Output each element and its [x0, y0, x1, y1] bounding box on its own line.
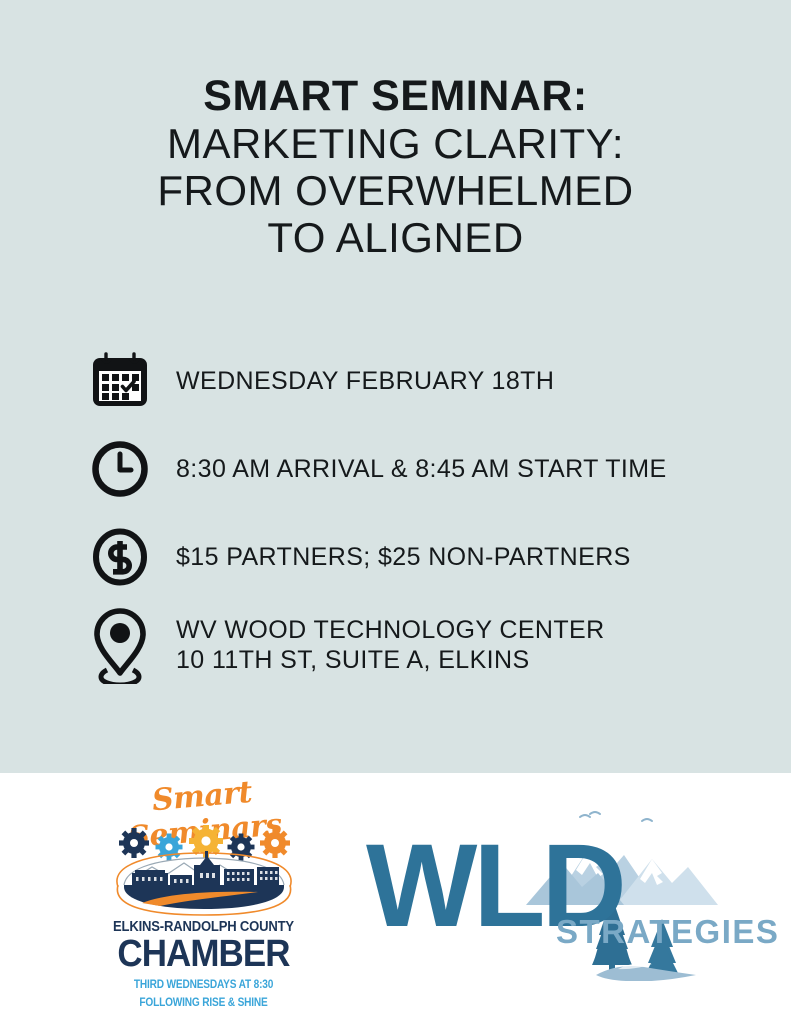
map-pin-icon — [84, 609, 156, 681]
detail-text-date: WEDNESDAY FEBRUARY 18TH — [176, 366, 554, 397]
detail-row-location: WV WOOD TECHNOLOGY CENTER 10 11TH ST, SU… — [84, 608, 744, 682]
calendar-icon — [84, 345, 156, 417]
event-flyer: SMART SEMINAR: MARKETING CLARITY: FROM O… — [0, 0, 791, 1024]
detail-text-time: 8:30 AM ARRIVAL & 8:45 AM START TIME — [176, 454, 667, 485]
event-details-list: WEDNESDAY FEBRUARY 18TH 8:30 AM ARRIVAL … — [84, 344, 744, 698]
detail-row-time: 8:30 AM ARRIVAL & 8:45 AM START TIME — [84, 432, 744, 506]
detail-text-price: $15 PARTNERS; $25 NON-PARTNERS — [176, 542, 631, 573]
detail-row-date: WEDNESDAY FEBRUARY 18TH — [84, 344, 744, 418]
title-line-2: MARKETING CLARITY: — [0, 120, 791, 167]
elkins-cityscape-oval — [108, 851, 300, 917]
wld-strategies-logo: WLD STRATEGIES — [366, 801, 726, 981]
wld-subtitle: STRATEGIES — [556, 913, 779, 951]
detail-row-price: $15 PARTNERS; $25 NON-PARTNERS — [84, 520, 744, 594]
title-line-4: TO ALIGNED — [0, 214, 791, 261]
dollar-circle-icon — [84, 521, 156, 593]
title-line-1: SMART SEMINAR: — [0, 72, 791, 120]
clock-icon — [84, 433, 156, 505]
chamber-tagline-1: THIRD WEDNESDAYS AT 8:30 — [109, 979, 298, 991]
chamber-tagline-2: FOLLOWING RISE & SHINE — [109, 997, 298, 1009]
chamber-main-word: CHAMBER — [105, 936, 303, 972]
flyer-top-panel: SMART SEMINAR: MARKETING CLARITY: FROM O… — [0, 0, 791, 773]
title-line-3: FROM OVERWHELMED — [0, 167, 791, 214]
chamber-wordmark: ELKINS-RANDOLPH COUNTY CHAMBER THIRD WED… — [96, 919, 311, 1009]
detail-text-location: WV WOOD TECHNOLOGY CENTER 10 11TH ST, SU… — [176, 615, 605, 676]
flyer-footer-panel: Smart Seminars — [0, 773, 791, 1024]
location-line-2: 10 11TH ST, SUITE A, ELKINS — [176, 646, 530, 674]
page-title: SMART SEMINAR: MARKETING CLARITY: FROM O… — [0, 72, 791, 261]
chamber-logo: Smart Seminars — [96, 779, 311, 1019]
location-line-1: WV WOOD TECHNOLOGY CENTER — [176, 616, 605, 644]
